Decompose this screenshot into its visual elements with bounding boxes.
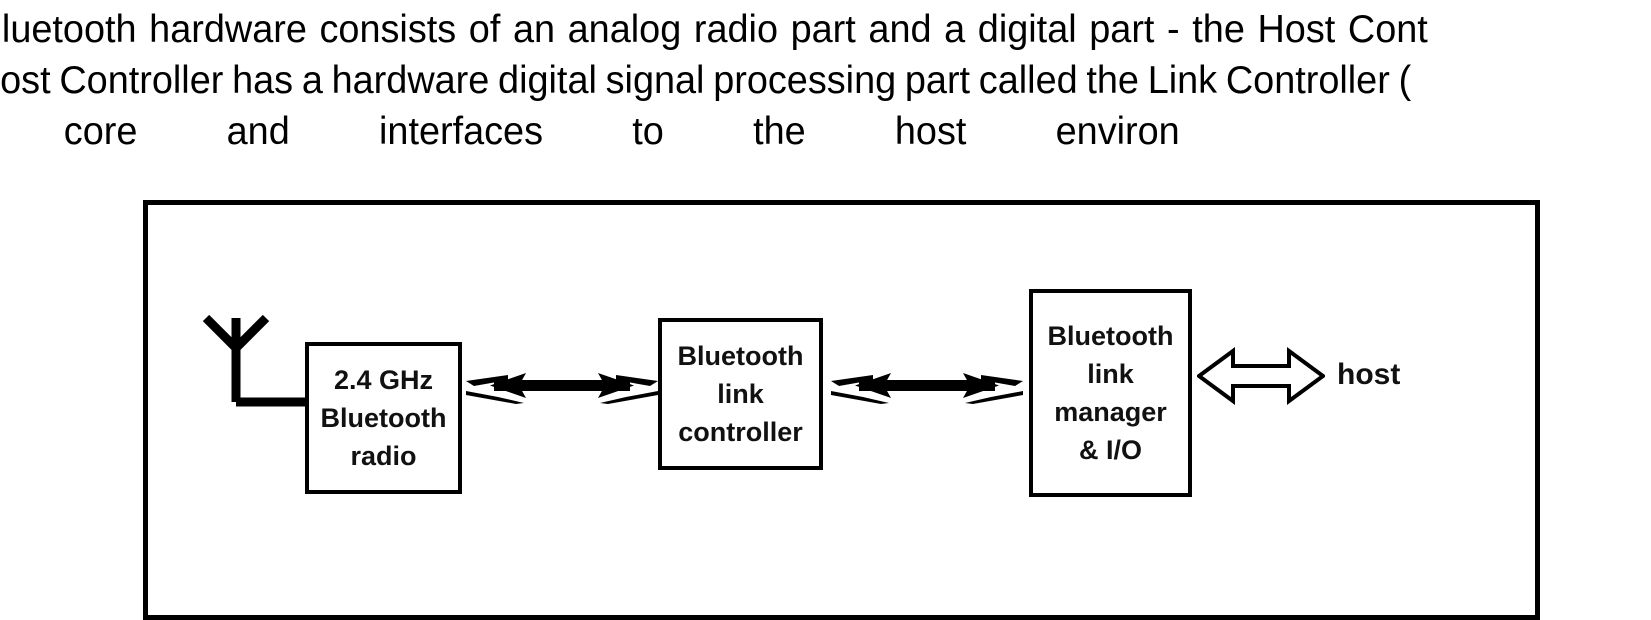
block-bluetooth-radio: 2.4 GHz Bluetooth radio — [305, 342, 462, 494]
prose-line-3: PUcoreandinterfacestothehostenviron — [0, 106, 1651, 157]
block-line: controller — [678, 413, 803, 451]
host-label: host — [1337, 355, 1400, 395]
word: and — [227, 106, 290, 157]
block-line: Bluetooth — [1048, 317, 1174, 355]
connector-radio-to-link-controller-icon — [464, 355, 660, 417]
block-line: 2.4 GHz — [334, 361, 433, 399]
word: has — [232, 55, 293, 106]
word: radio — [694, 4, 778, 55]
word: the — [1192, 4, 1245, 55]
antenna-icon — [188, 310, 313, 410]
word: called — [979, 55, 1078, 106]
word: the — [1086, 55, 1139, 106]
word: host — [895, 106, 967, 157]
body-text-block: heBluetoothhardwareconsistsofananalograd… — [0, 4, 1651, 174]
word: Host — [1257, 4, 1335, 55]
block-line: link — [717, 375, 764, 413]
word: Controller — [59, 55, 223, 106]
word: and — [868, 4, 931, 55]
word: Bluetooth — [0, 4, 137, 55]
connector-link-controller-to-link-manager-icon — [829, 355, 1025, 417]
word: interfaces — [379, 106, 543, 157]
word: digital — [978, 4, 1077, 55]
word: ( — [1399, 55, 1412, 106]
word: consists — [320, 4, 457, 55]
block-line: Bluetooth — [321, 399, 447, 437]
block-line: & I/O — [1079, 431, 1142, 469]
word: of — [469, 4, 501, 55]
word: part — [905, 55, 970, 106]
word: - — [1167, 4, 1180, 55]
block-line: Bluetooth — [678, 337, 804, 375]
block-line: link — [1087, 355, 1134, 393]
word: analog — [568, 4, 682, 55]
word: to — [632, 106, 664, 157]
block-line: manager — [1054, 393, 1167, 431]
word: Controller — [1226, 55, 1390, 106]
connector-host-icon — [1197, 345, 1325, 407]
block-line: radio — [350, 437, 416, 475]
word: core — [64, 106, 138, 157]
word: part — [1089, 4, 1154, 55]
word: a — [944, 4, 965, 55]
word: digital — [498, 55, 597, 106]
word: hardware — [332, 55, 490, 106]
word: Link — [1148, 55, 1217, 106]
word: a — [302, 55, 323, 106]
word: part — [791, 4, 856, 55]
word: signal — [606, 55, 705, 106]
prose-line-2: heHostControllerhasahardwaredigitalsigna… — [0, 55, 1651, 106]
word: environ — [1056, 106, 1180, 157]
word: an — [513, 4, 555, 55]
word: hardware — [149, 4, 307, 55]
word: processing — [713, 55, 896, 106]
diagram-frame: 2.4 GHz Bluetooth radio Bluetooth link c… — [143, 200, 1540, 620]
word: the — [753, 106, 806, 157]
block-bluetooth-link-manager: Bluetooth link manager & I/O — [1029, 289, 1192, 497]
word: Host — [0, 55, 51, 106]
word: Cont — [1348, 4, 1428, 55]
prose-line-1: heBluetoothhardwareconsistsofananalograd… — [0, 4, 1651, 55]
block-bluetooth-link-controller: Bluetooth link controller — [658, 318, 823, 470]
